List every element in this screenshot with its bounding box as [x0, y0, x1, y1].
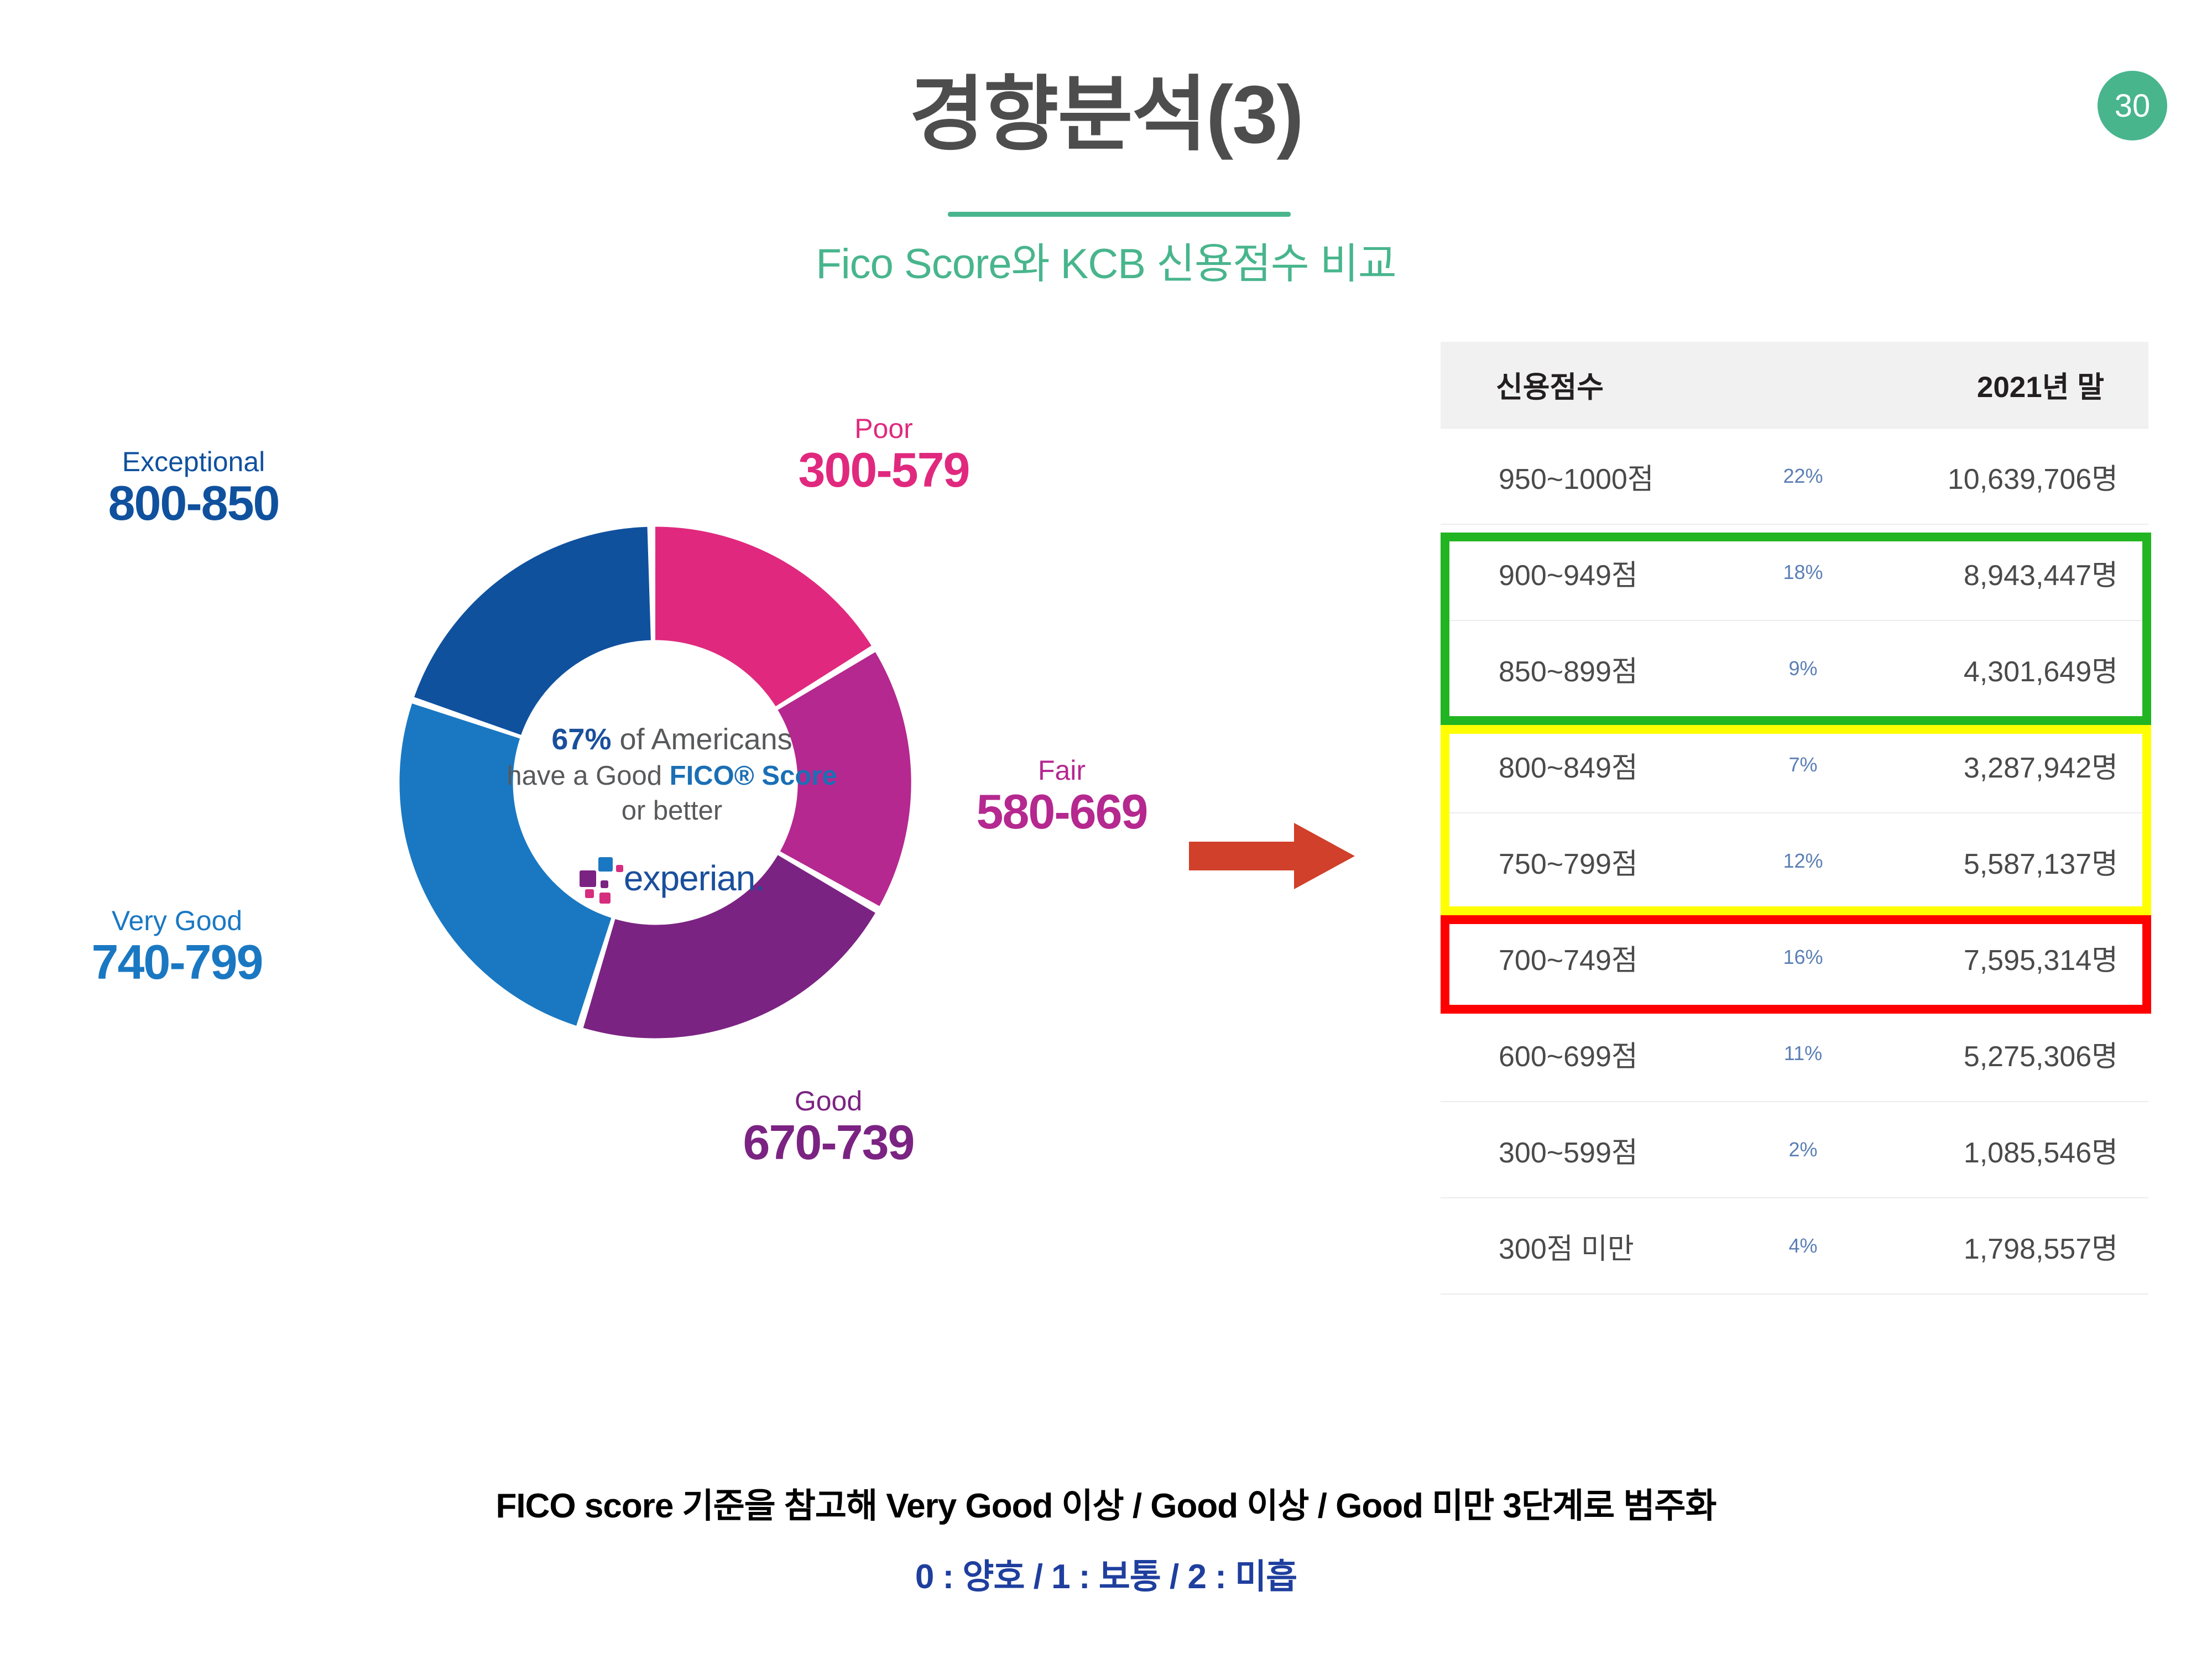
cell-count: 5,587,137명 — [1872, 813, 2149, 909]
table-row[interactable]: 300점 미만 4% 1,798,557명 — [1441, 1198, 2148, 1294]
donut-label-fair-name: Fair — [929, 757, 1194, 784]
flow-arrow-icon — [1189, 818, 1366, 896]
donut-label-exceptional-name: Exceptional — [61, 448, 326, 476]
donut-center-line1-rest: of Americans — [611, 723, 792, 756]
table-row[interactable]: 700~749점 16% 7,595,314명 — [1441, 909, 2148, 1005]
cell-count: 10,639,706명 — [1872, 428, 2149, 524]
donut-label-good-name: Good — [696, 1087, 961, 1115]
donut-center-line1: 67% of Americans — [551, 722, 792, 757]
table-row[interactable]: 900~949점 18% 8,943,447명 — [1441, 524, 2148, 620]
cell-count: 3,287,942명 — [1872, 717, 2149, 813]
donut-label-very-good: Very Good 740-799 — [44, 907, 310, 987]
table-header-year: 2021년 말 — [1872, 342, 2149, 428]
donut-label-good: Good 670-739 — [696, 1087, 961, 1167]
donut-label-exceptional: Exceptional 800-850 — [61, 448, 326, 528]
cell-percent: 7% — [1734, 717, 1872, 813]
donut-center-content: 67% of Americans have a Good FICO® Score… — [512, 639, 832, 959]
cell-percent: 9% — [1734, 620, 1872, 717]
cell-count: 7,595,314명 — [1872, 909, 2149, 1005]
page-number-badge: 30 — [2098, 71, 2167, 140]
cell-count: 5,275,306명 — [1872, 1005, 2149, 1102]
cell-range: 750~799점 — [1441, 813, 1734, 909]
table-row[interactable]: 950~1000점 22% 10,639,706명 — [1441, 428, 2148, 524]
cell-count: 8,943,447명 — [1872, 524, 2149, 620]
donut-center-line2-pre: have a Good — [507, 761, 669, 791]
cell-range: 300~599점 — [1441, 1102, 1734, 1198]
table-row[interactable]: 850~899점 9% 4,301,649명 — [1441, 620, 2148, 717]
table-header-row: 신용점수 2021년 말 — [1441, 342, 2148, 428]
cell-range: 850~899점 — [1441, 620, 1734, 717]
cell-percent: 12% — [1734, 813, 1872, 909]
donut-label-poor-name: Poor — [751, 415, 1016, 442]
cell-range: 900~949점 — [1441, 524, 1734, 620]
cell-range: 800~849점 — [1441, 717, 1734, 813]
cell-percent: 22% — [1734, 428, 1872, 524]
experian-logo: experian. — [580, 856, 764, 900]
cell-percent: 4% — [1734, 1198, 1872, 1294]
experian-wordmark: experian. — [624, 858, 764, 899]
fico-donut-chart: 16% 17% 21% 25% 21% Exceptional 800-850 … — [66, 453, 1228, 1283]
table-row[interactable]: 300~599점 2% 1,085,546명 — [1441, 1102, 2148, 1198]
cell-percent: 11% — [1734, 1005, 1872, 1102]
experian-dots-icon — [580, 856, 620, 900]
donut-label-very-good-range: 740-799 — [44, 938, 310, 987]
donut-label-fair: Fair 580-669 — [929, 757, 1194, 836]
donut-label-poor: Poor 300-579 — [751, 415, 1016, 494]
donut-label-fair-range: 580-669 — [929, 787, 1194, 836]
table-row[interactable]: 800~849점 7% 3,287,942명 — [1441, 717, 2148, 813]
page-subtitle: Fico Score와 KCB 신용점수 비교 — [0, 229, 2212, 290]
kcb-score-table: 신용점수 2021년 말 950~1000점 22% 10,639,706명 9… — [1441, 342, 2148, 1295]
donut-center-line2: have a Good FICO® Score — [507, 760, 837, 791]
donut-label-poor-range: 300-579 — [751, 446, 1016, 494]
donut-label-very-good-name: Very Good — [44, 907, 310, 935]
donut-label-exceptional-range: 800-850 — [61, 479, 326, 528]
cell-percent: 18% — [1734, 524, 1872, 620]
cell-count: 1,085,546명 — [1872, 1102, 2149, 1198]
table-row[interactable]: 750~799점 12% 5,587,137명 — [1441, 813, 2148, 909]
table-row[interactable]: 600~699점 11% 5,275,306명 — [1441, 1005, 2148, 1102]
cell-percent: 16% — [1734, 909, 1872, 1005]
cell-range: 700~749점 — [1441, 909, 1734, 1005]
page-title: 경향분석(3) — [0, 72, 2212, 158]
cell-percent: 2% — [1734, 1102, 1872, 1198]
cell-count: 1,798,557명 — [1872, 1198, 2149, 1294]
cell-range: 300점 미만 — [1441, 1198, 1734, 1294]
cell-count: 4,301,649명 — [1872, 620, 2149, 717]
page-number-label: 30 — [2115, 87, 2151, 124]
donut-label-good-range: 670-739 — [696, 1118, 961, 1167]
donut-center-percent: 67% — [551, 723, 611, 756]
donut-center-fico: FICO® Score — [670, 761, 837, 791]
footnote-line-1: FICO score 기준을 참고해 Very Good 이상 / Good 이… — [0, 1478, 2212, 1527]
cell-range: 600~699점 — [1441, 1005, 1734, 1102]
table-header-score: 신용점수 — [1441, 342, 1734, 428]
donut-center-line3: or better — [622, 795, 722, 826]
cell-range: 950~1000점 — [1441, 428, 1734, 524]
title-divider — [948, 212, 1291, 217]
footnote-line-2: 0 : 양호 / 1 : 보통 / 2 : 미흡 — [0, 1548, 2212, 1598]
